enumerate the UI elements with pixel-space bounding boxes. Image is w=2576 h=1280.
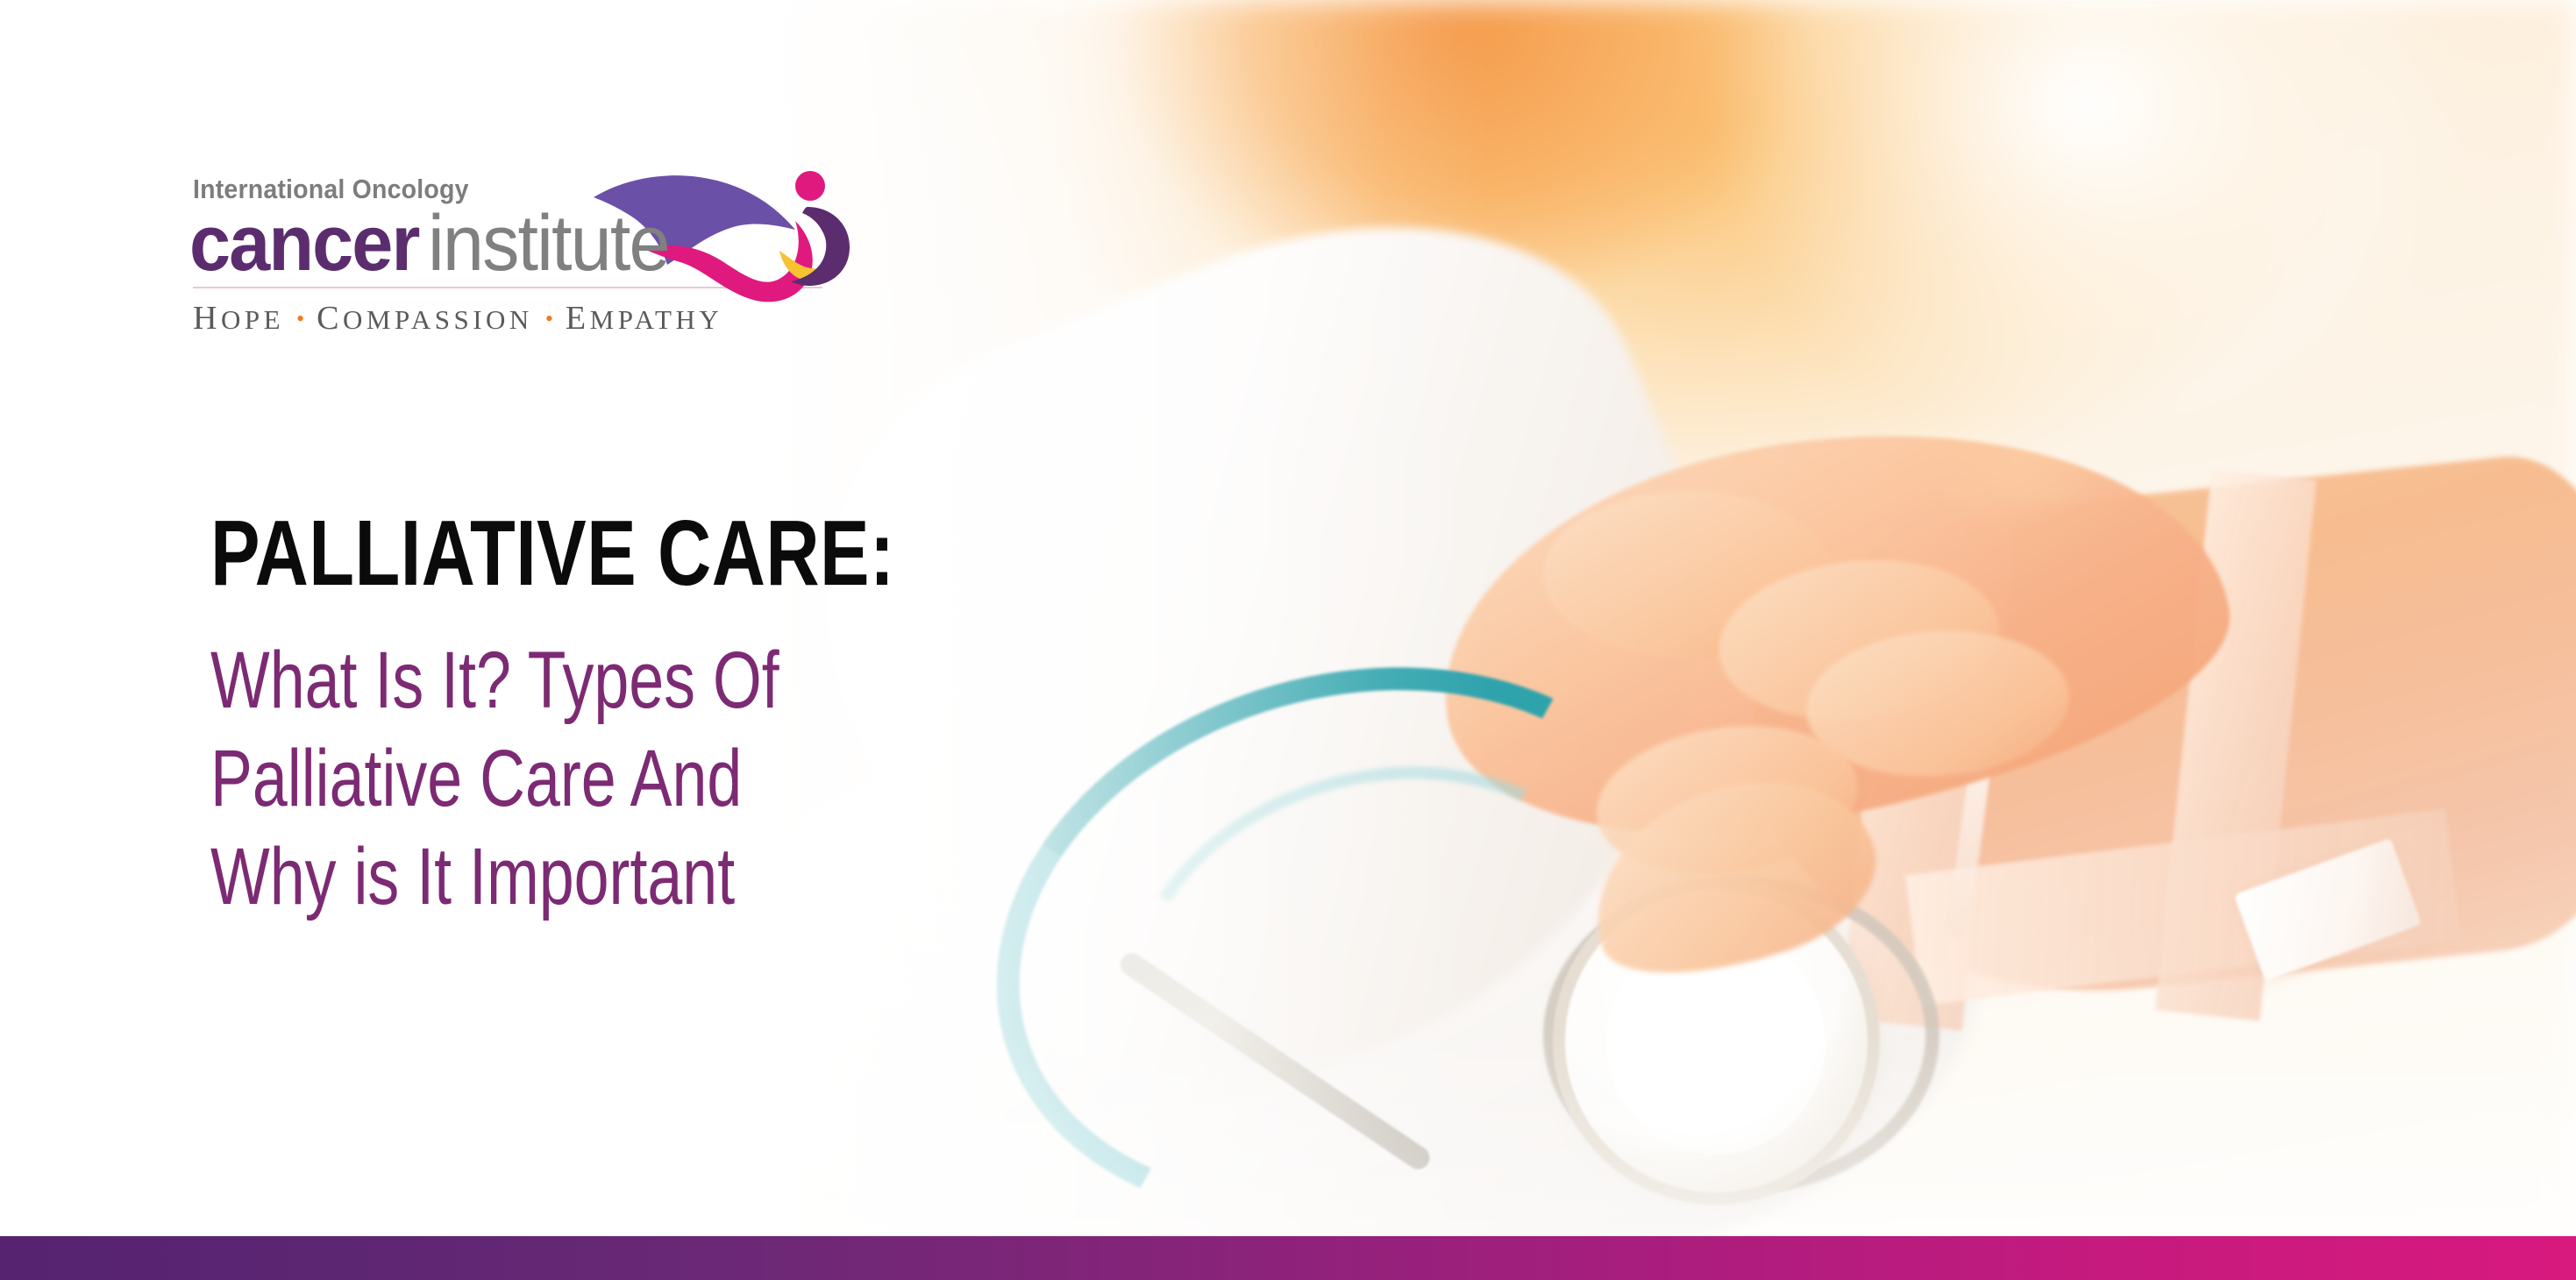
logo-wordmark-primary: cancer — [189, 206, 419, 281]
photo-white-fade-bottom — [0, 1028, 2576, 1238]
headline-block: PALLIATIVE CARE: What Is It? Types Of Pa… — [210, 507, 1306, 927]
bottom-accent-bar — [0, 1236, 2576, 1280]
subtitle-line-1: What Is It? Types Of — [210, 631, 1065, 729]
head-dot — [795, 171, 825, 201]
brand-logo[interactable]: International Oncology cancerinstitute H… — [175, 175, 842, 338]
tagline-bullet-icon: • — [533, 306, 566, 331]
palliative-care-banner: International Oncology cancerinstitute H… — [0, 0, 2576, 1280]
page-subtitle: What Is It? Types Of Palliative Care And… — [210, 631, 1306, 927]
tagline-bullet-icon: • — [284, 306, 317, 331]
logo-kicker: International Oncology — [193, 175, 790, 203]
page-title: PALLIATIVE CARE: — [210, 507, 1087, 600]
tagline-word-hope: HOPE — [193, 304, 284, 335]
tagline-word-compassion: COMPASSION — [317, 304, 533, 335]
subtitle-line-2: Palliative Care And — [210, 729, 1065, 828]
logo-wordmark-secondary: institute — [428, 206, 669, 281]
subtitle-line-3: Why is It Important — [210, 828, 1065, 926]
